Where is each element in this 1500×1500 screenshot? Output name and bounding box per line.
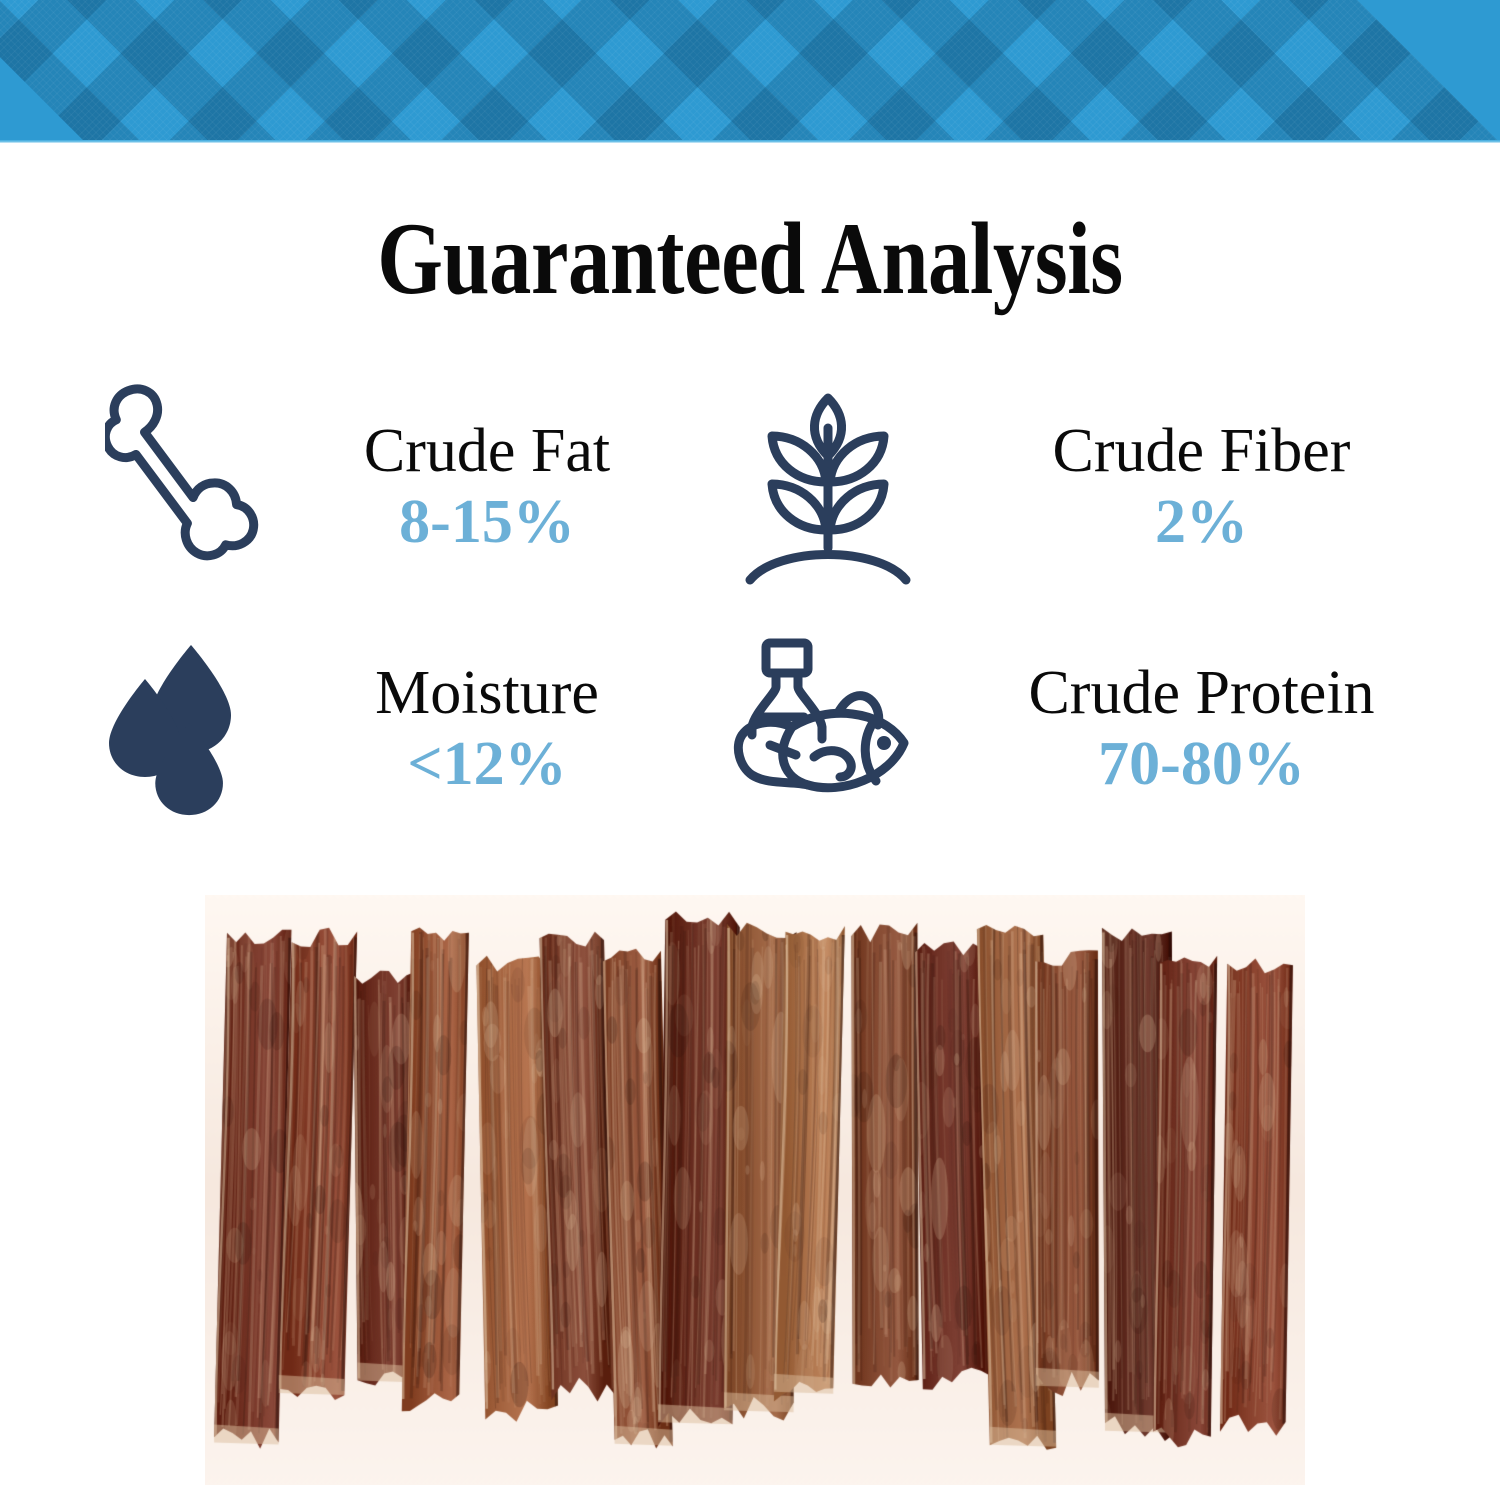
- nutrient-text-moisture: Moisture <12%: [280, 659, 690, 801]
- product-photo: [205, 895, 1305, 1485]
- nutrient-item-crude-fat: Crude Fat 8-15%: [90, 365, 690, 610]
- nutrient-text-crude-fat: Crude Fat 8-15%: [280, 417, 690, 559]
- fish-oil-icon: [720, 635, 935, 825]
- guaranteed-analysis-grid: Crude Fat 8-15%: [60, 365, 1460, 845]
- page-title: Guaranteed Analysis: [135, 206, 1365, 312]
- nutrient-text-crude-fiber: Crude Fiber 2%: [935, 417, 1460, 559]
- nutrient-item-crude-fiber: Crude Fiber 2%: [720, 365, 1460, 610]
- product-photo-canvas: [205, 895, 1305, 1485]
- nutrient-label: Moisture: [284, 659, 690, 727]
- header-gingham-banner: [0, 0, 1500, 143]
- nutrient-label: Crude Fiber: [943, 417, 1460, 485]
- gingham-pattern-layer: [0, 0, 1500, 143]
- water-droplets-icon: [90, 635, 280, 825]
- nutrient-value: <12%: [284, 727, 690, 801]
- header-divider-rule: [0, 140, 1500, 143]
- wheat-plant-icon: [720, 380, 935, 595]
- nutrient-item-moisture: Moisture <12%: [90, 615, 690, 845]
- bone-icon: [90, 373, 280, 603]
- nutrient-label: Crude Fat: [284, 417, 690, 485]
- nutrient-value: 2%: [943, 485, 1460, 559]
- nutrient-value: 8-15%: [284, 485, 690, 559]
- nutrient-item-crude-protein: Crude Protein 70-80%: [720, 615, 1460, 845]
- infographic-page: Guaranteed Analysis Crude Fat 8-15%: [0, 0, 1500, 1500]
- nutrient-text-crude-protein: Crude Protein 70-80%: [935, 659, 1460, 801]
- nutrient-value: 70-80%: [943, 727, 1460, 801]
- nutrient-label: Crude Protein: [943, 659, 1460, 727]
